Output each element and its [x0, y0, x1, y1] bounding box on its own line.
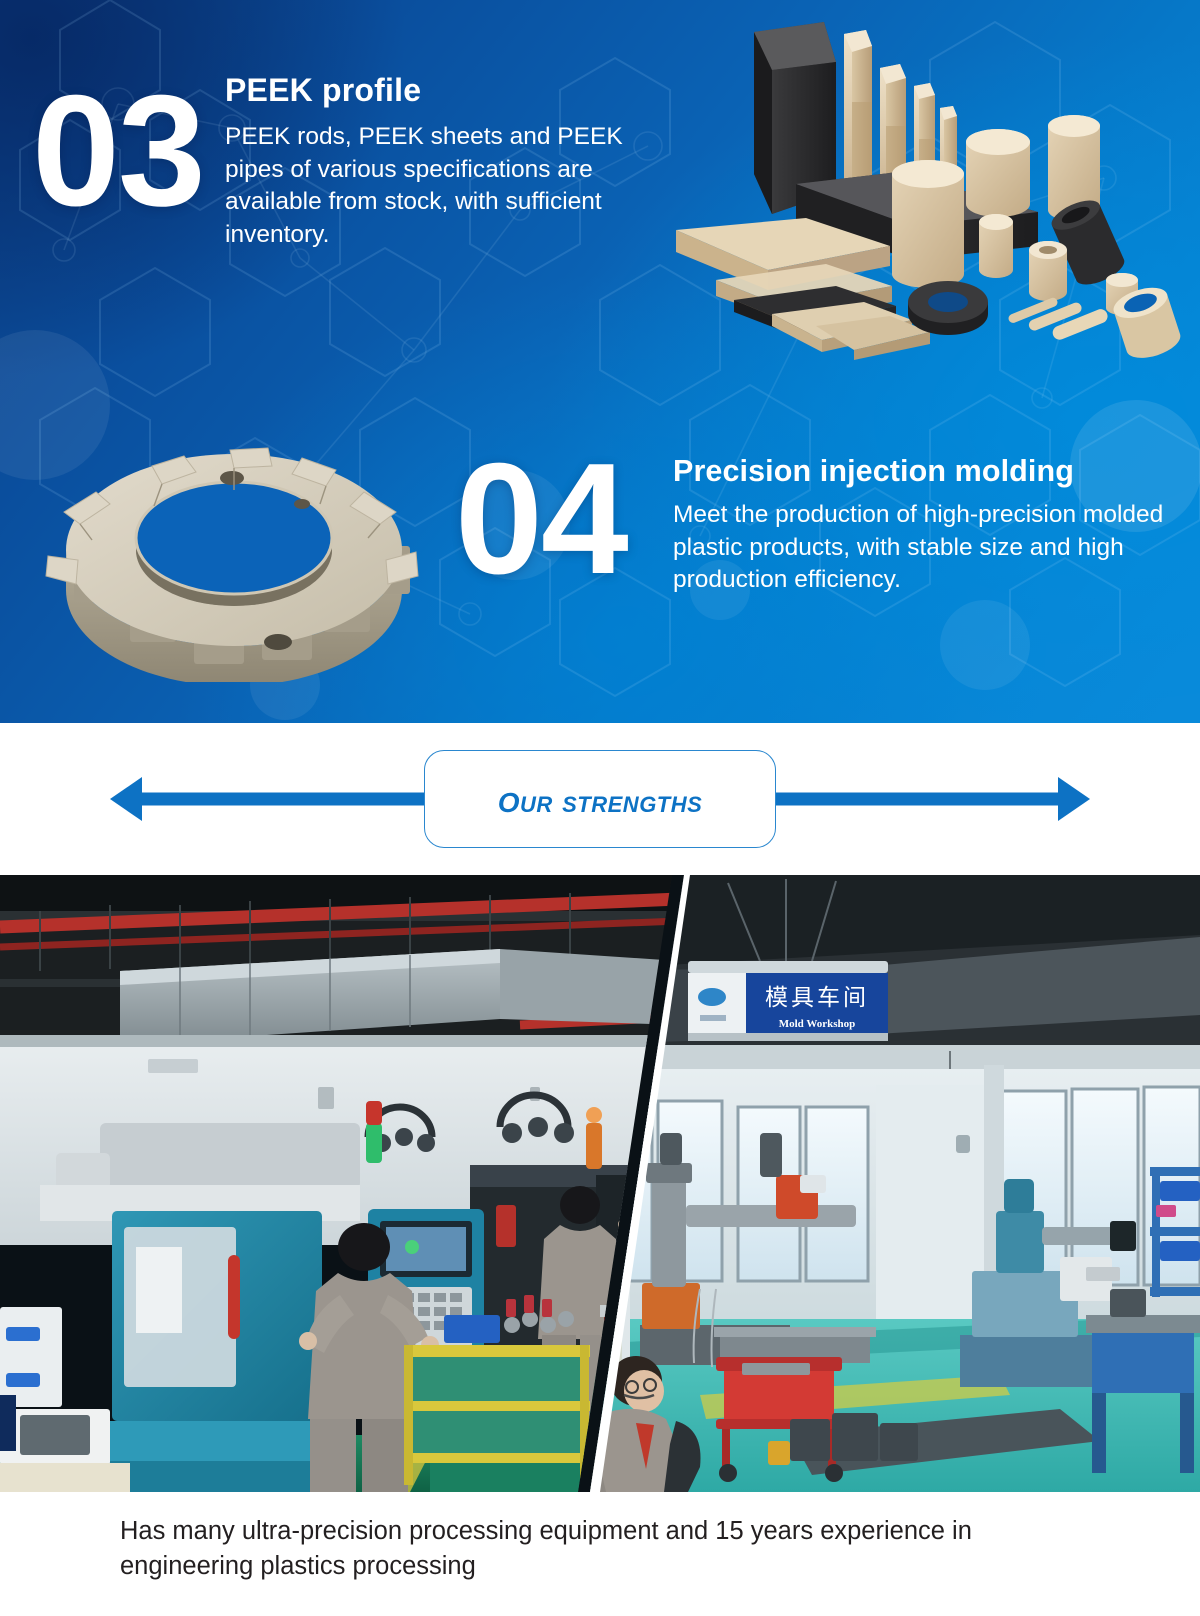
hero-item-number: 03 [32, 80, 204, 222]
peek-gear-ring-photo [34, 400, 434, 682]
workshop-photo-strip: 模具车间 Mold Workshop [0, 875, 1200, 1492]
cnc-machining-workshop-photo [0, 875, 680, 1492]
hero-item-body: Meet the production of high-precision mo… [673, 499, 1173, 597]
hero-item-number: 04 [455, 448, 627, 590]
hero-item-title: PEEK profile [225, 72, 685, 109]
arrow-right-shaft [734, 793, 1060, 806]
our-strengths-pill: Our strengths [424, 750, 776, 848]
peek-profile-products-photo [676, 14, 1188, 360]
our-strengths-label: Our strengths [498, 777, 703, 822]
hero-item-body: PEEK rods, PEEK sheets and PEEK pipes of… [225, 121, 685, 251]
arrow-left-icon [110, 777, 142, 821]
caption-block: Has many ultra-precision processing equi… [0, 1492, 1200, 1616]
arrow-left-shaft [140, 793, 466, 806]
svg-text:模具车间: 模具车间 [765, 985, 869, 1011]
hero-item-title: Precision injection molding [673, 454, 1173, 489]
hero-banner: 03 PEEK profile PEEK rods, PEEK sheets a… [0, 0, 1200, 723]
caption-text: Has many ultra-precision processing equi… [120, 1514, 1080, 1584]
svg-text:Mold Workshop: Mold Workshop [779, 1018, 856, 1030]
arrow-right-icon [1058, 777, 1090, 821]
our-strengths-divider: Our strengths [0, 723, 1200, 875]
